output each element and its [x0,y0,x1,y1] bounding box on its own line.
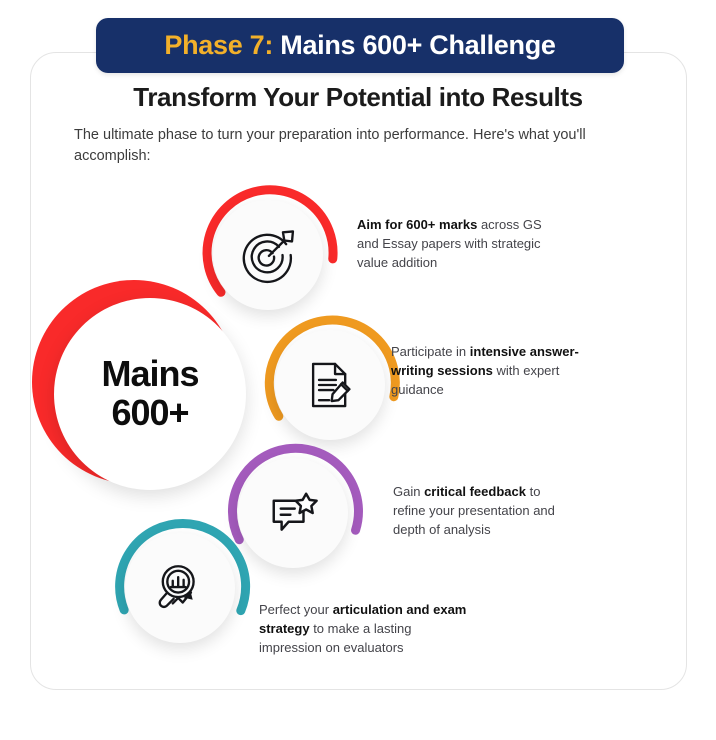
hub-line-2: 600+ [111,394,188,433]
feature-text-2: Participate in intensive answer-writing … [391,343,591,400]
document-pencil-icon [303,358,357,412]
phase-banner: Phase 7: Mains 600+ Challenge [96,18,624,73]
feature-text-4-lead: Perfect your [259,602,333,617]
node-icon-disc-1 [213,200,323,310]
node-icon-disc-2 [275,330,385,440]
feature-text-3-lead: Gain [393,484,424,499]
feature-text-1-bold: Aim for 600+ marks [357,217,477,232]
node-icon-disc-4 [125,533,235,643]
page-subtitle: The ultimate phase to turn your preparat… [74,125,614,168]
chat-star-icon [265,485,321,541]
feature-text-4: Perfect your articulation and exam strat… [259,601,474,658]
page-title: Transform Your Potential into Results [0,82,716,113]
node-icon-disc-3 [238,458,348,568]
feature-text-2-lead: Participate in [391,344,470,359]
hub-disc: Mains 600+ [54,298,246,490]
feature-text-3-bold: critical feedback [424,484,526,499]
feature-node-4 [109,517,251,659]
feature-node-2 [259,314,401,456]
target-dart-icon [239,226,297,284]
feature-text-1: Aim for 600+ marks across GS and Essay p… [357,216,562,273]
banner-phase-label: Phase 7: [164,30,273,60]
chart-magnifier-growth-icon [151,559,209,617]
banner-title-label: Mains 600+ Challenge [273,30,556,60]
hub-line-1: Mains [101,355,198,394]
feature-text-3: Gain critical feedback to refine your pr… [393,483,573,540]
feature-node-1 [197,184,339,326]
banner-text: Phase 7: Mains 600+ Challenge [164,30,555,61]
